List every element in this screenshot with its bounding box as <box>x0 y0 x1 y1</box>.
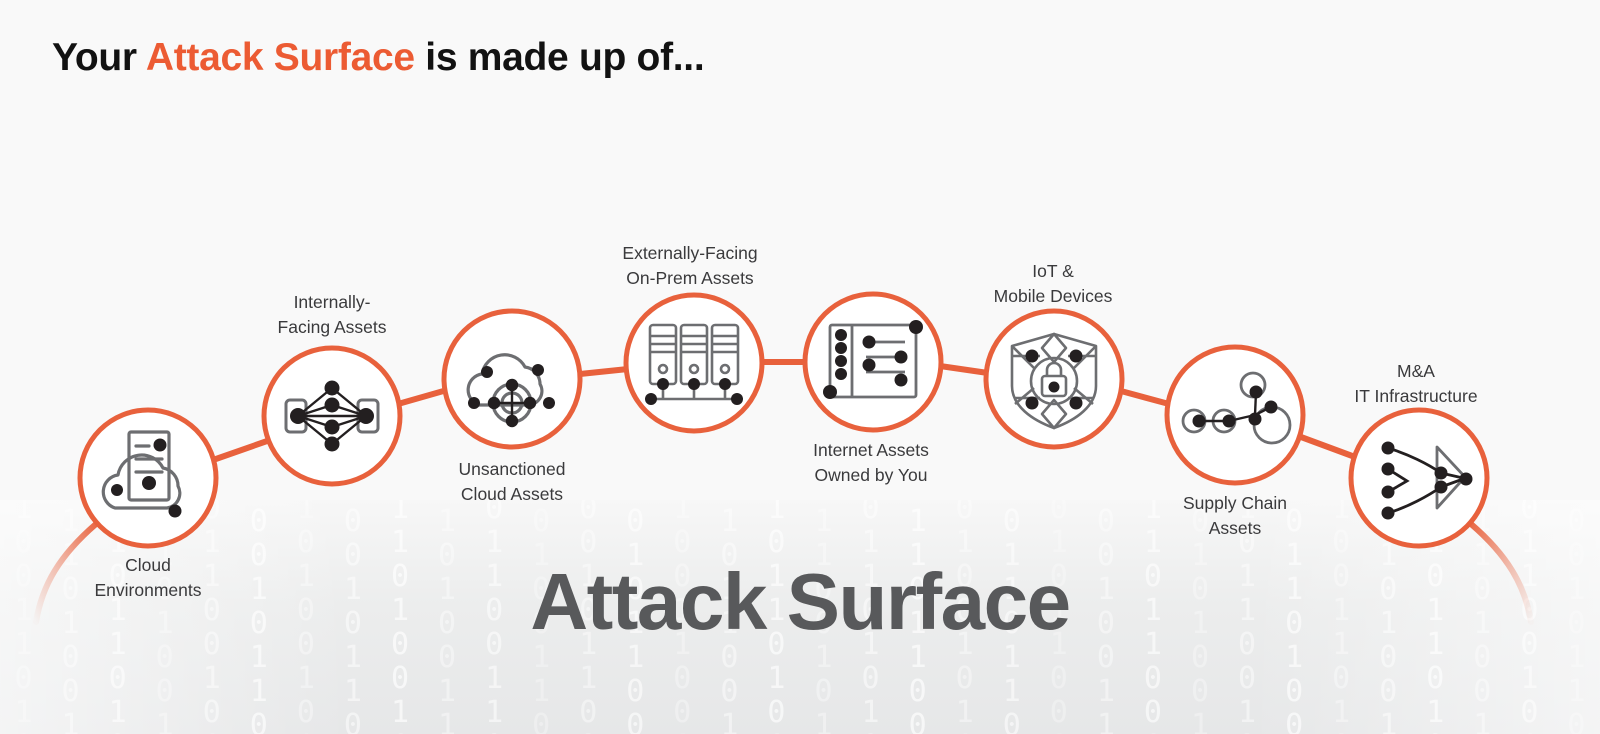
node-iot-mobile-devices[interactable] <box>986 311 1122 447</box>
node-unsanctioned-cloud-assets[interactable] <box>444 311 580 447</box>
connector-3-4 <box>580 369 628 374</box>
connector-7-8 <box>1301 437 1355 457</box>
node-cloud-environments[interactable] <box>80 410 216 546</box>
node-internet-assets-owned-by-you[interactable] <box>805 294 941 430</box>
attack-surface-wordmark: Attack Surface <box>0 556 1600 648</box>
node-externally-facing-on-prem-assets[interactable] <box>626 295 762 431</box>
connector-2-3 <box>398 390 447 404</box>
node-label-externally-facing-on-prem: Externally-Facing On-Prem Assets <box>622 241 757 291</box>
node-label-unsanctioned-cloud-assets: Unsanctioned Cloud Assets <box>458 457 565 507</box>
node-supply-chain-assets[interactable] <box>1167 347 1303 483</box>
node-internally-facing-assets[interactable] <box>264 348 400 484</box>
connector-1-2 <box>213 440 270 460</box>
node-label-internet-assets-owned: Internet Assets Owned by You <box>813 438 929 488</box>
node-ma-it-infrastructure[interactable] <box>1351 410 1487 546</box>
connector-6-7 <box>1121 391 1169 404</box>
node-label-ma-it-infrastructure: M&A IT Infrastructure <box>1354 359 1477 409</box>
node-label-supply-chain-assets: Supply Chain Assets <box>1183 491 1287 541</box>
attack-surface-infographic: 1 0 0 1 1 0 1 0 01 1 0 1 0 0 1 1 00 1 0 … <box>0 0 1600 734</box>
node-label-iot-mobile-devices: IoT & Mobile Devices <box>994 259 1113 309</box>
connector-5-6 <box>940 366 988 373</box>
node-label-internally-facing-assets: Internally- Facing Assets <box>278 290 387 340</box>
